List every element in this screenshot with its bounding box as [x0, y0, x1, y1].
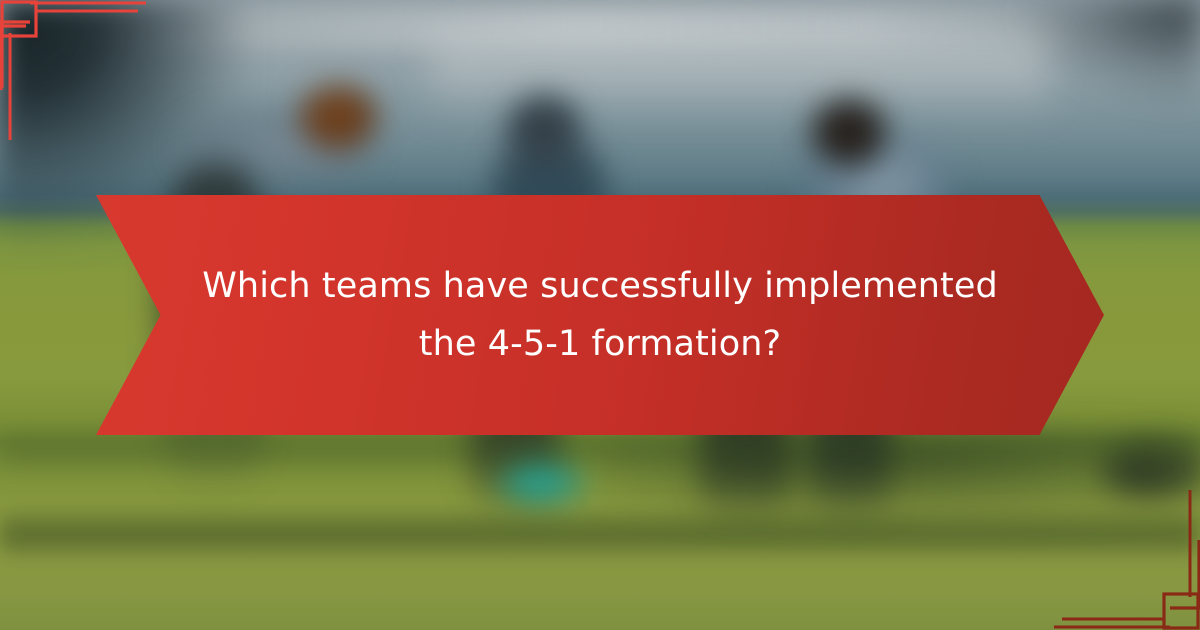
- banner-headline-line-1: Which teams have successfully implemente…: [202, 257, 998, 315]
- screenshot-canvas: Which teams have successfully implemente…: [0, 0, 1200, 630]
- background-player-b-head: [508, 96, 580, 164]
- ornament-square-bottom-right: [1164, 594, 1198, 628]
- corner-ornament-top-left: [0, 0, 160, 150]
- background-shadow-top-right: [1010, 0, 1200, 120]
- background-player-c-head: [812, 100, 886, 166]
- headline-banner: Which teams have successfully implemente…: [96, 195, 1104, 435]
- background-player-a-head: [300, 86, 378, 150]
- ornament-corner-bracket-mirror: [1170, 540, 1199, 608]
- ornament-corner-bracket: [1, 22, 30, 90]
- corner-ornament-bottom-right: [1040, 480, 1200, 630]
- banner-text-block: Which teams have successfully implemente…: [96, 195, 1104, 435]
- banner-headline-line-2: the 4-5-1 formation?: [419, 315, 781, 373]
- ornament-square-top-left: [2, 2, 36, 36]
